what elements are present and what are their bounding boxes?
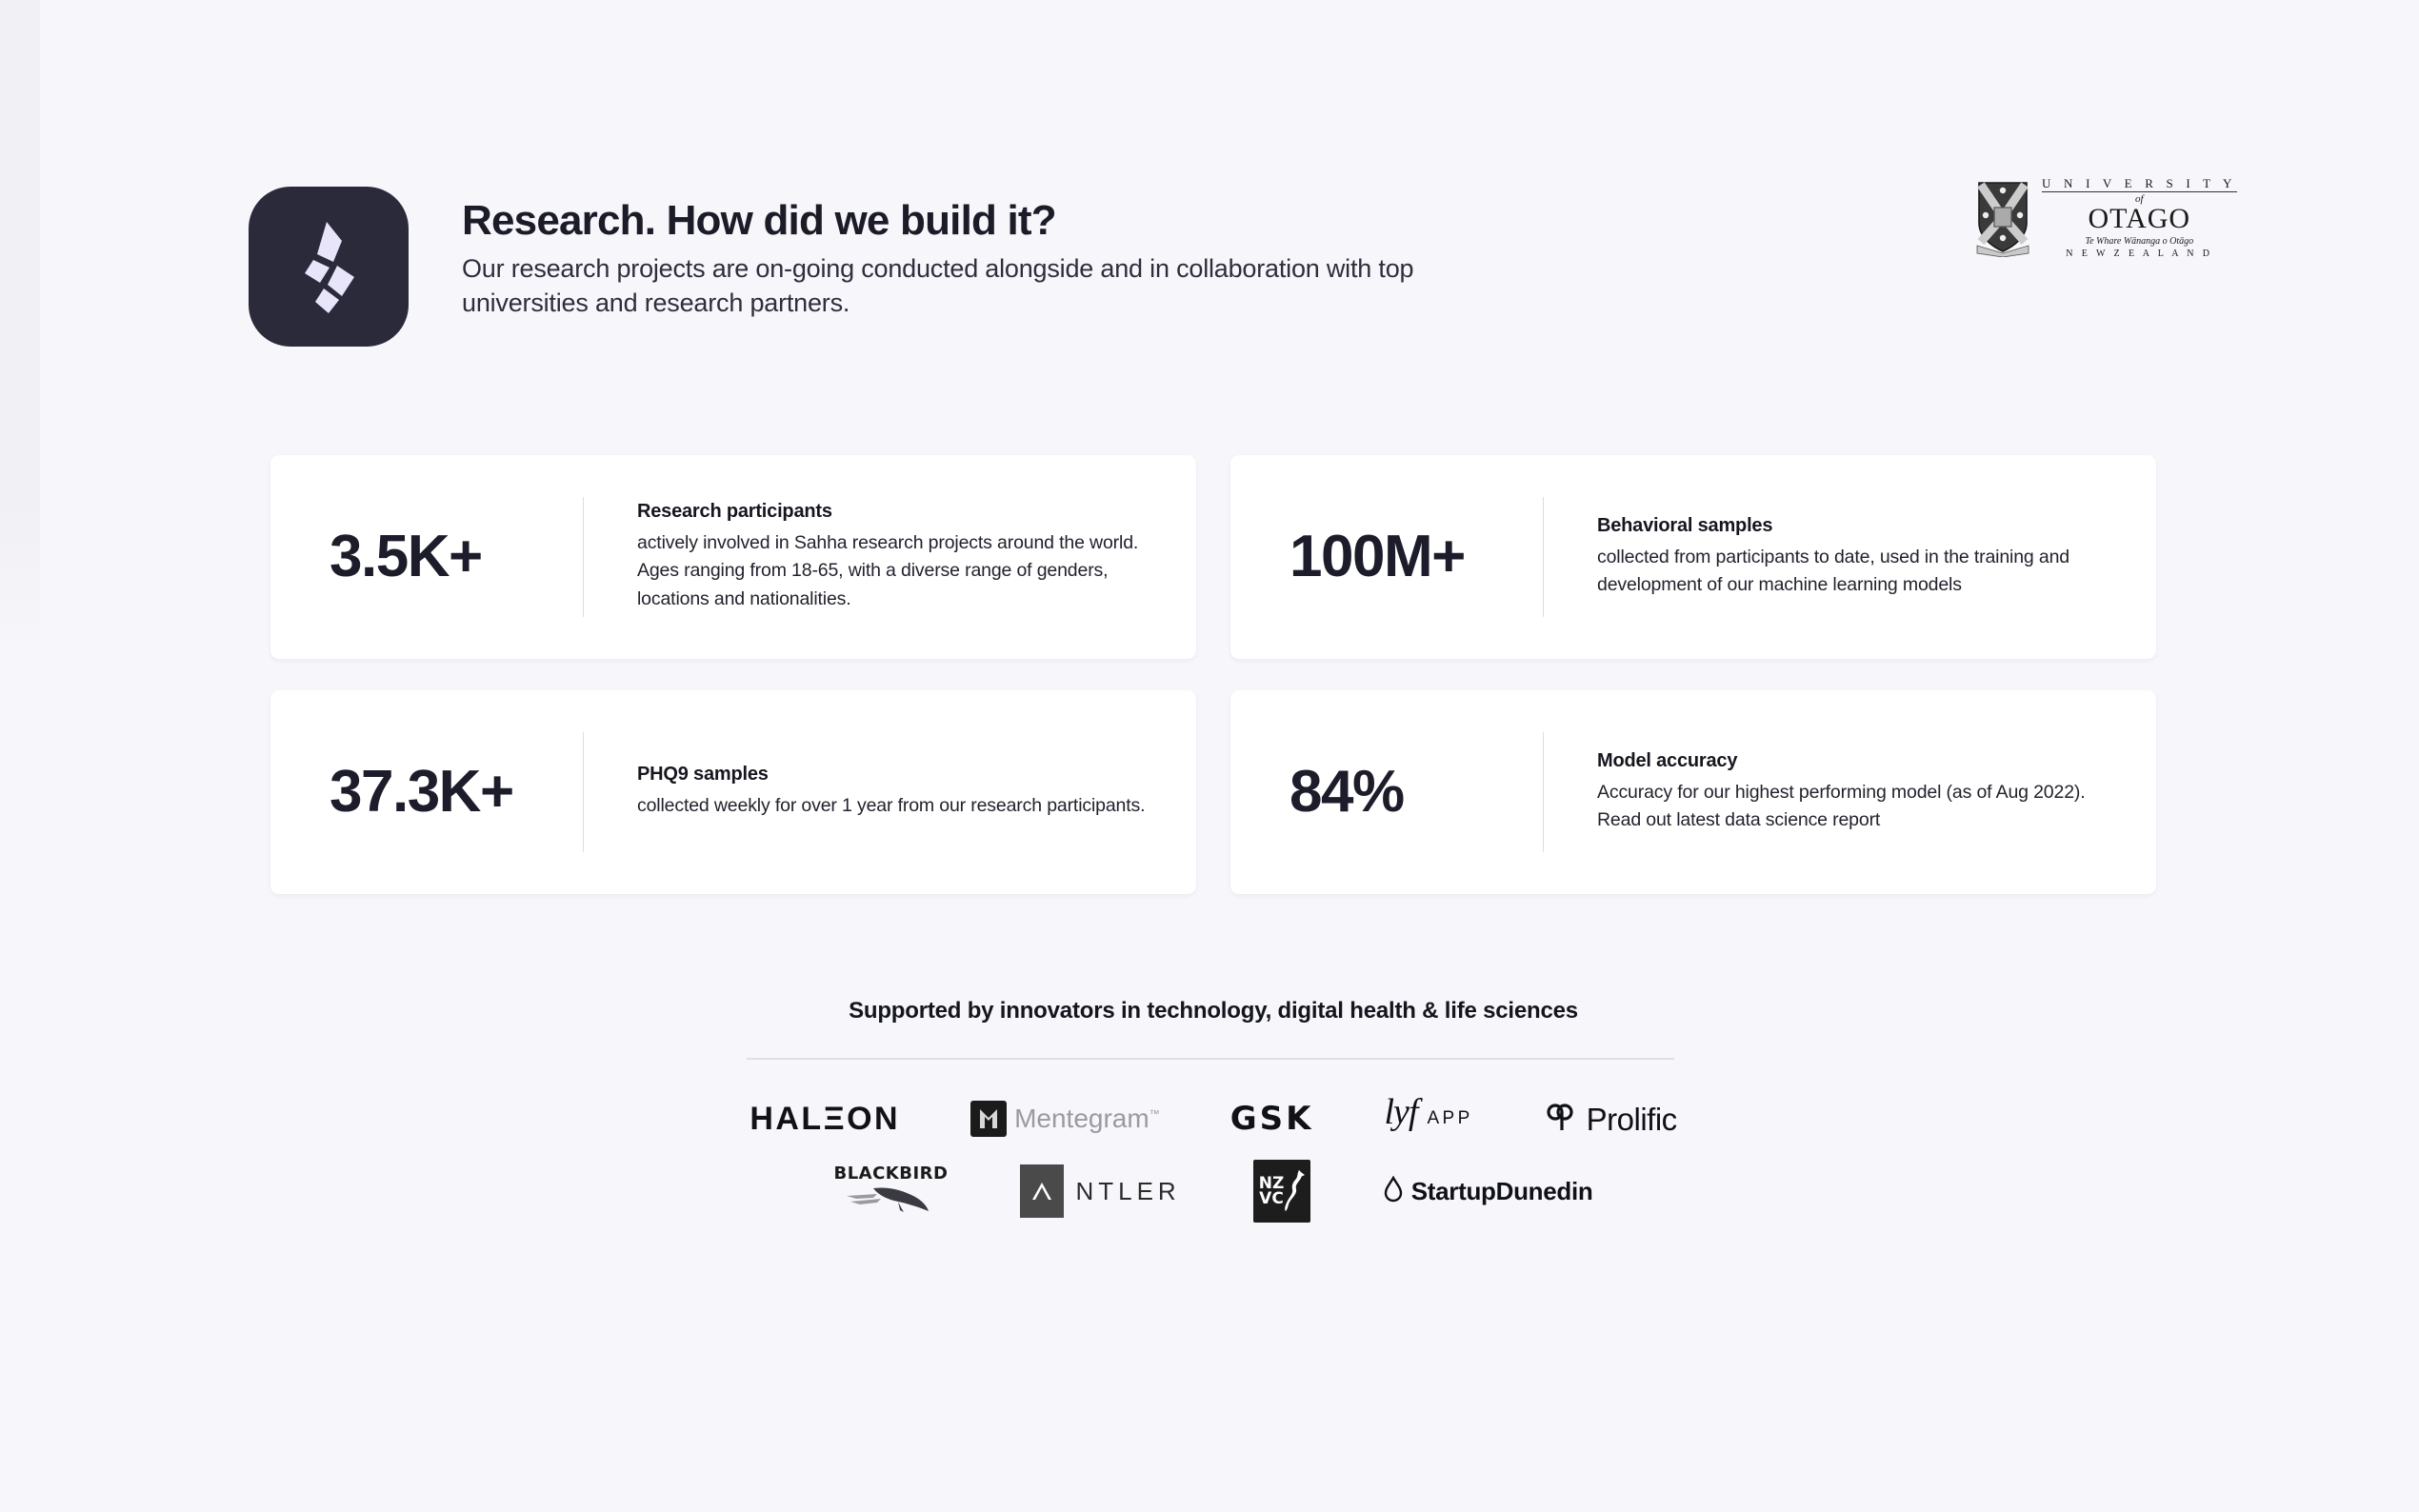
otago-wordmark: U N I V E R S I T Y of OTAGO Te Whare Wā… xyxy=(2042,177,2237,260)
stat-label: Behavioral samples xyxy=(1597,515,2110,537)
stat-value: 84% xyxy=(1289,763,1404,822)
stat-body: Model accuracy Accuracy for our highest … xyxy=(1544,750,2120,834)
gsk-wordmark: GSK xyxy=(1230,1103,1314,1135)
supporter-logo-row-2: BLACKBIRD NTLER xyxy=(747,1166,1680,1216)
stat-value: 37.3K+ xyxy=(330,763,513,822)
otago-country-word: N E W Z E A L A N D xyxy=(2066,248,2212,260)
blackbird-wordmark: BLACKBIRD xyxy=(833,1165,948,1183)
lyf-wordmark: lyf xyxy=(1384,1094,1417,1130)
blackbird-logo: BLACKBIRD xyxy=(833,1166,948,1216)
stat-body: PHQ9 samples collected weekly for over 1… xyxy=(584,764,1154,820)
gsk-logo: GSK xyxy=(1230,1094,1314,1144)
stat-card: 3.5K+ Research participants actively inv… xyxy=(270,455,1196,659)
otago-crest-shield xyxy=(1973,179,2032,257)
antler-mark-icon xyxy=(1020,1164,1064,1218)
mentegram-tm: ™ xyxy=(1150,1109,1160,1121)
stat-label: PHQ9 samples xyxy=(637,764,1145,786)
stat-value-wrap: 100M+ xyxy=(1267,527,1543,587)
stat-label: Model accuracy xyxy=(1597,750,2110,772)
otago-university-word: U N I V E R S I T Y xyxy=(2042,177,2237,192)
mentegram-logo: Mentegram™ xyxy=(970,1094,1160,1144)
stat-body: Behavioral samples collected from partic… xyxy=(1544,515,2120,599)
supporter-logo-row-1: HALΞON Mentegram™ GSK lyf APP xyxy=(747,1094,1680,1144)
supporters-divider xyxy=(747,1058,1674,1060)
stat-card: 84% Model accuracy Accuracy for our high… xyxy=(1230,690,2156,894)
antler-wordmark: NTLER xyxy=(1075,1179,1180,1204)
supporters-section: Supported by innovators in technology, d… xyxy=(747,998,1680,1216)
stat-value: 3.5K+ xyxy=(330,527,482,587)
nzvc-mark-icon: NZ VC xyxy=(1253,1160,1310,1223)
header-text-block: Research. How did we build it? Our resea… xyxy=(462,187,1433,321)
blackbird-bird-icon xyxy=(845,1183,936,1218)
left-edge-panel xyxy=(0,0,40,640)
startup-dunedin-wordmark: StartupDunedin xyxy=(1411,1179,1593,1204)
nzvc-line-2: VC xyxy=(1259,1189,1284,1208)
nzvc-logo: NZ VC xyxy=(1253,1166,1310,1216)
startup-dunedin-droplet-icon xyxy=(1383,1176,1404,1207)
supporters-heading: Supported by innovators in technology, d… xyxy=(747,998,1680,1025)
mentegram-word: Mentegram xyxy=(1014,1104,1150,1133)
otago-maori-word: Te Whare Wānanga o Otāgo xyxy=(2085,235,2193,248)
haleon-wordmark: HALΞON xyxy=(750,1103,900,1135)
university-of-otago-logo: U N I V E R S I T Y of OTAGO Te Whare Wā… xyxy=(1973,177,2237,260)
stat-label: Research participants xyxy=(637,501,1150,523)
stat-description: collected from participants to date, use… xyxy=(1597,544,2110,599)
haleon-logo: HALΞON xyxy=(750,1094,900,1144)
nzvc-letters: NZ VC xyxy=(1253,1176,1285,1206)
sahha-diamond-logo xyxy=(249,187,409,347)
startup-dunedin-logo: StartupDunedin xyxy=(1383,1166,1593,1216)
lyf-app-word: APP xyxy=(1427,1108,1472,1129)
stat-body: Research participants actively involved … xyxy=(584,501,1160,612)
prolific-logo: Prolific xyxy=(1544,1094,1677,1144)
page-header: Research. How did we build it? Our resea… xyxy=(249,187,1433,347)
lyf-app-logo: lyf APP xyxy=(1384,1094,1472,1144)
prolific-mark-icon xyxy=(1544,1101,1576,1138)
stat-card-grid: 3.5K+ Research participants actively inv… xyxy=(270,455,2156,894)
mentegram-wordmark: Mentegram™ xyxy=(1014,1105,1160,1132)
stat-description: collected weekly for over 1 year from ou… xyxy=(637,792,1145,820)
antler-logo: NTLER xyxy=(1020,1166,1180,1216)
mentegram-mark-icon xyxy=(970,1101,1007,1137)
page-root: Research. How did we build it? Our resea… xyxy=(0,0,2419,1512)
stat-value-wrap: 84% xyxy=(1267,763,1543,822)
stat-description: Accuracy for our highest performing mode… xyxy=(1597,779,2110,834)
stat-value-wrap: 37.3K+ xyxy=(307,763,583,822)
page-title: Research. How did we build it? xyxy=(462,198,1433,244)
prolific-wordmark: Prolific xyxy=(1587,1104,1677,1135)
otago-name-word: OTAGO xyxy=(2089,206,2191,233)
stat-description: actively involved in Sahha research proj… xyxy=(637,529,1150,612)
stat-card: 100M+ Behavioral samples collected from … xyxy=(1230,455,2156,659)
stat-value-wrap: 3.5K+ xyxy=(307,527,583,587)
stat-card: 37.3K+ PHQ9 samples collected weekly for… xyxy=(270,690,1196,894)
page-subtitle: Our research projects are on-going condu… xyxy=(462,251,1433,321)
stat-value: 100M+ xyxy=(1289,527,1465,587)
